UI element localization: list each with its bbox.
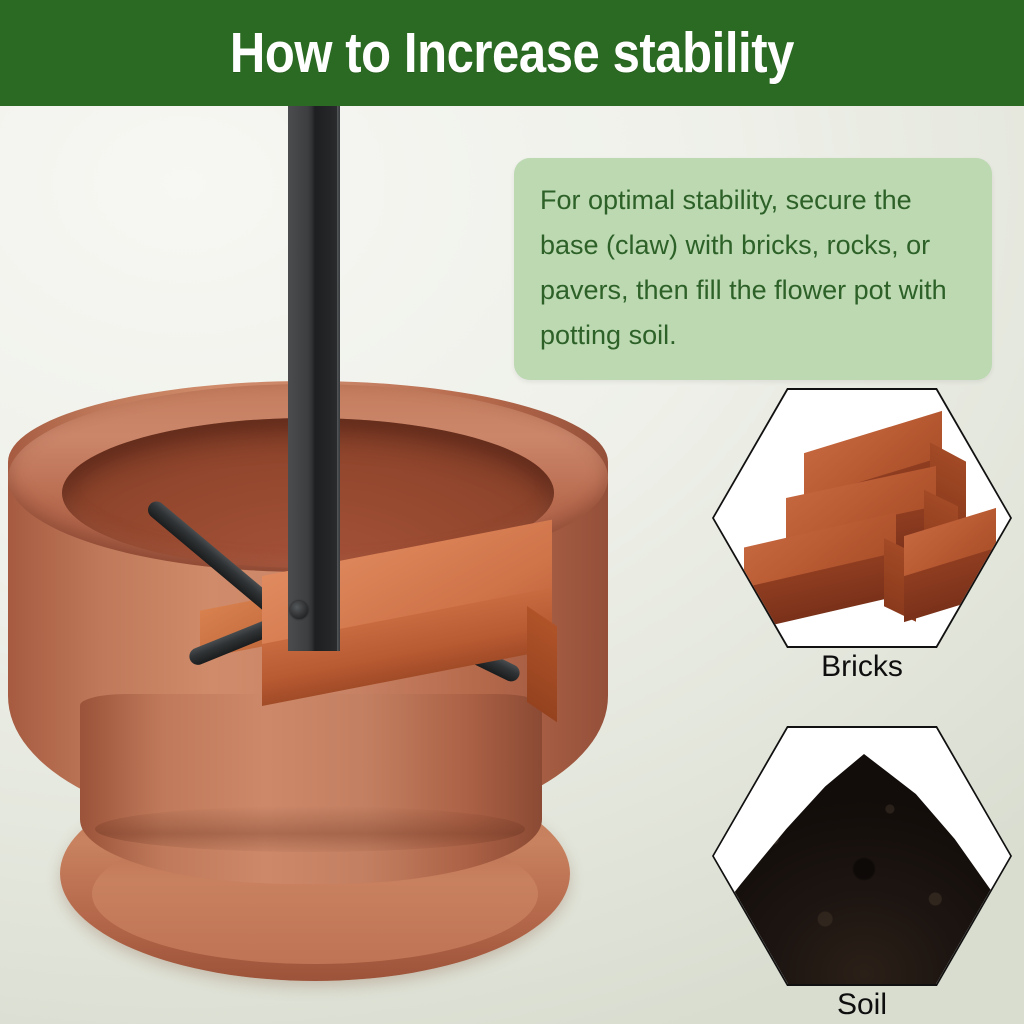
pole-edge-highlight xyxy=(337,106,340,651)
badge-bricks: Bricks xyxy=(712,388,1012,648)
pole-screw-icon xyxy=(290,601,308,619)
product-photo-scene xyxy=(0,106,680,1024)
hexagon-frame-soil xyxy=(712,726,1012,986)
brick-in-pot-side-face xyxy=(527,606,557,722)
pot-shadow-band xyxy=(95,806,525,852)
header-banner: How to Increase stability xyxy=(0,0,1024,106)
badge-label-soil: Soil xyxy=(712,988,1012,1022)
badge-label-bricks: Bricks xyxy=(712,650,1012,684)
hexagon-frame-bricks xyxy=(712,388,1012,648)
black-metal-pole xyxy=(288,106,340,651)
soil-mound-icon xyxy=(714,728,1010,984)
bricks-stack-icon xyxy=(714,390,1010,646)
badge-soil: Soil xyxy=(712,726,1012,986)
page-root: How to Increase stability For optimal st… xyxy=(0,0,1024,1024)
page-title: How to Increase stability xyxy=(230,20,794,86)
